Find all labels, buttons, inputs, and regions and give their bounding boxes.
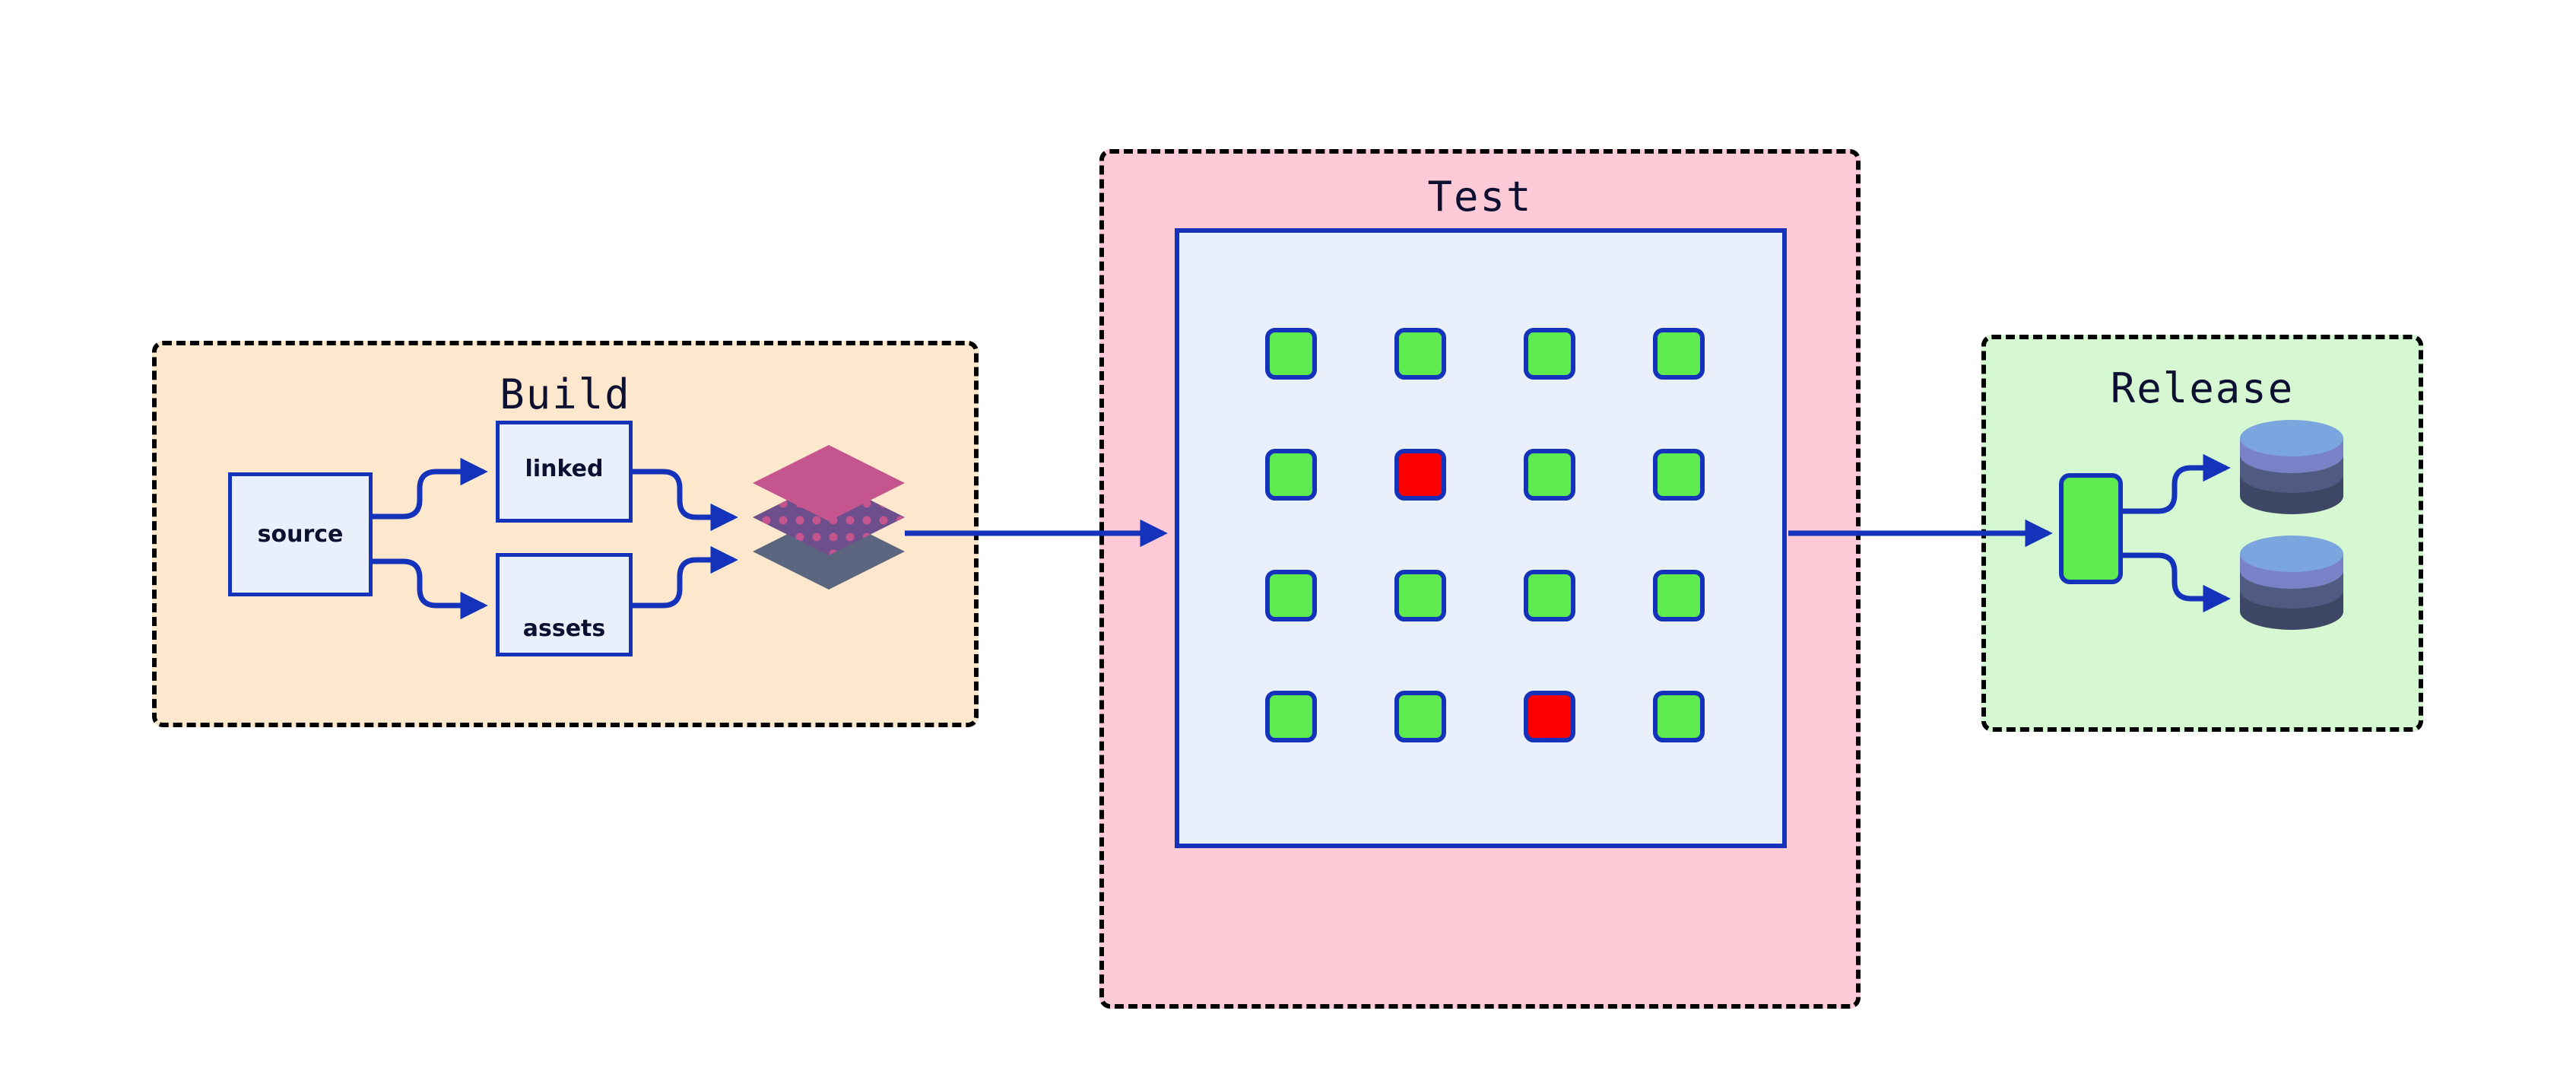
test-cell-pass[interactable] — [1653, 570, 1705, 621]
layers-icon — [741, 445, 916, 605]
database-icon[interactable] — [2235, 532, 2348, 639]
test-cell-pass[interactable] — [1653, 328, 1705, 380]
test-cell-pass[interactable] — [1653, 691, 1705, 742]
test-results-grid — [1265, 328, 1706, 742]
node-assets-label: assets — [523, 615, 606, 642]
stage-build-title: Build — [157, 370, 974, 418]
test-cell-pass[interactable] — [1394, 328, 1446, 380]
node-linked-label: linked — [525, 456, 604, 482]
test-cell-pass[interactable] — [1265, 449, 1317, 501]
test-cell-fail[interactable] — [1394, 449, 1446, 501]
test-cell-pass[interactable] — [1265, 328, 1317, 380]
test-cell-fail[interactable] — [1524, 691, 1575, 742]
test-cell-pass[interactable] — [1265, 570, 1317, 621]
test-cell-pass[interactable] — [1394, 691, 1446, 742]
node-source[interactable]: source — [228, 472, 373, 596]
stage-release-title: Release — [1986, 364, 2419, 412]
test-cell-pass[interactable] — [1653, 449, 1705, 501]
pipeline-diagram: Build source linked assets Test Release — [0, 0, 2576, 1068]
node-source-label: source — [258, 521, 344, 548]
stage-release: Release — [1981, 335, 2423, 732]
test-results-panel — [1175, 228, 1787, 848]
stage-test-title: Test — [1104, 173, 1856, 221]
test-cell-pass[interactable] — [1524, 449, 1575, 501]
node-assets[interactable]: assets — [496, 553, 633, 656]
test-cell-pass[interactable] — [1524, 328, 1575, 380]
node-release-artifact[interactable] — [2059, 473, 2123, 584]
node-linked[interactable]: linked — [496, 421, 633, 523]
test-cell-pass[interactable] — [1524, 570, 1575, 621]
test-cell-pass[interactable] — [1394, 570, 1446, 621]
test-cell-pass[interactable] — [1265, 691, 1317, 742]
database-icon[interactable] — [2235, 417, 2348, 523]
